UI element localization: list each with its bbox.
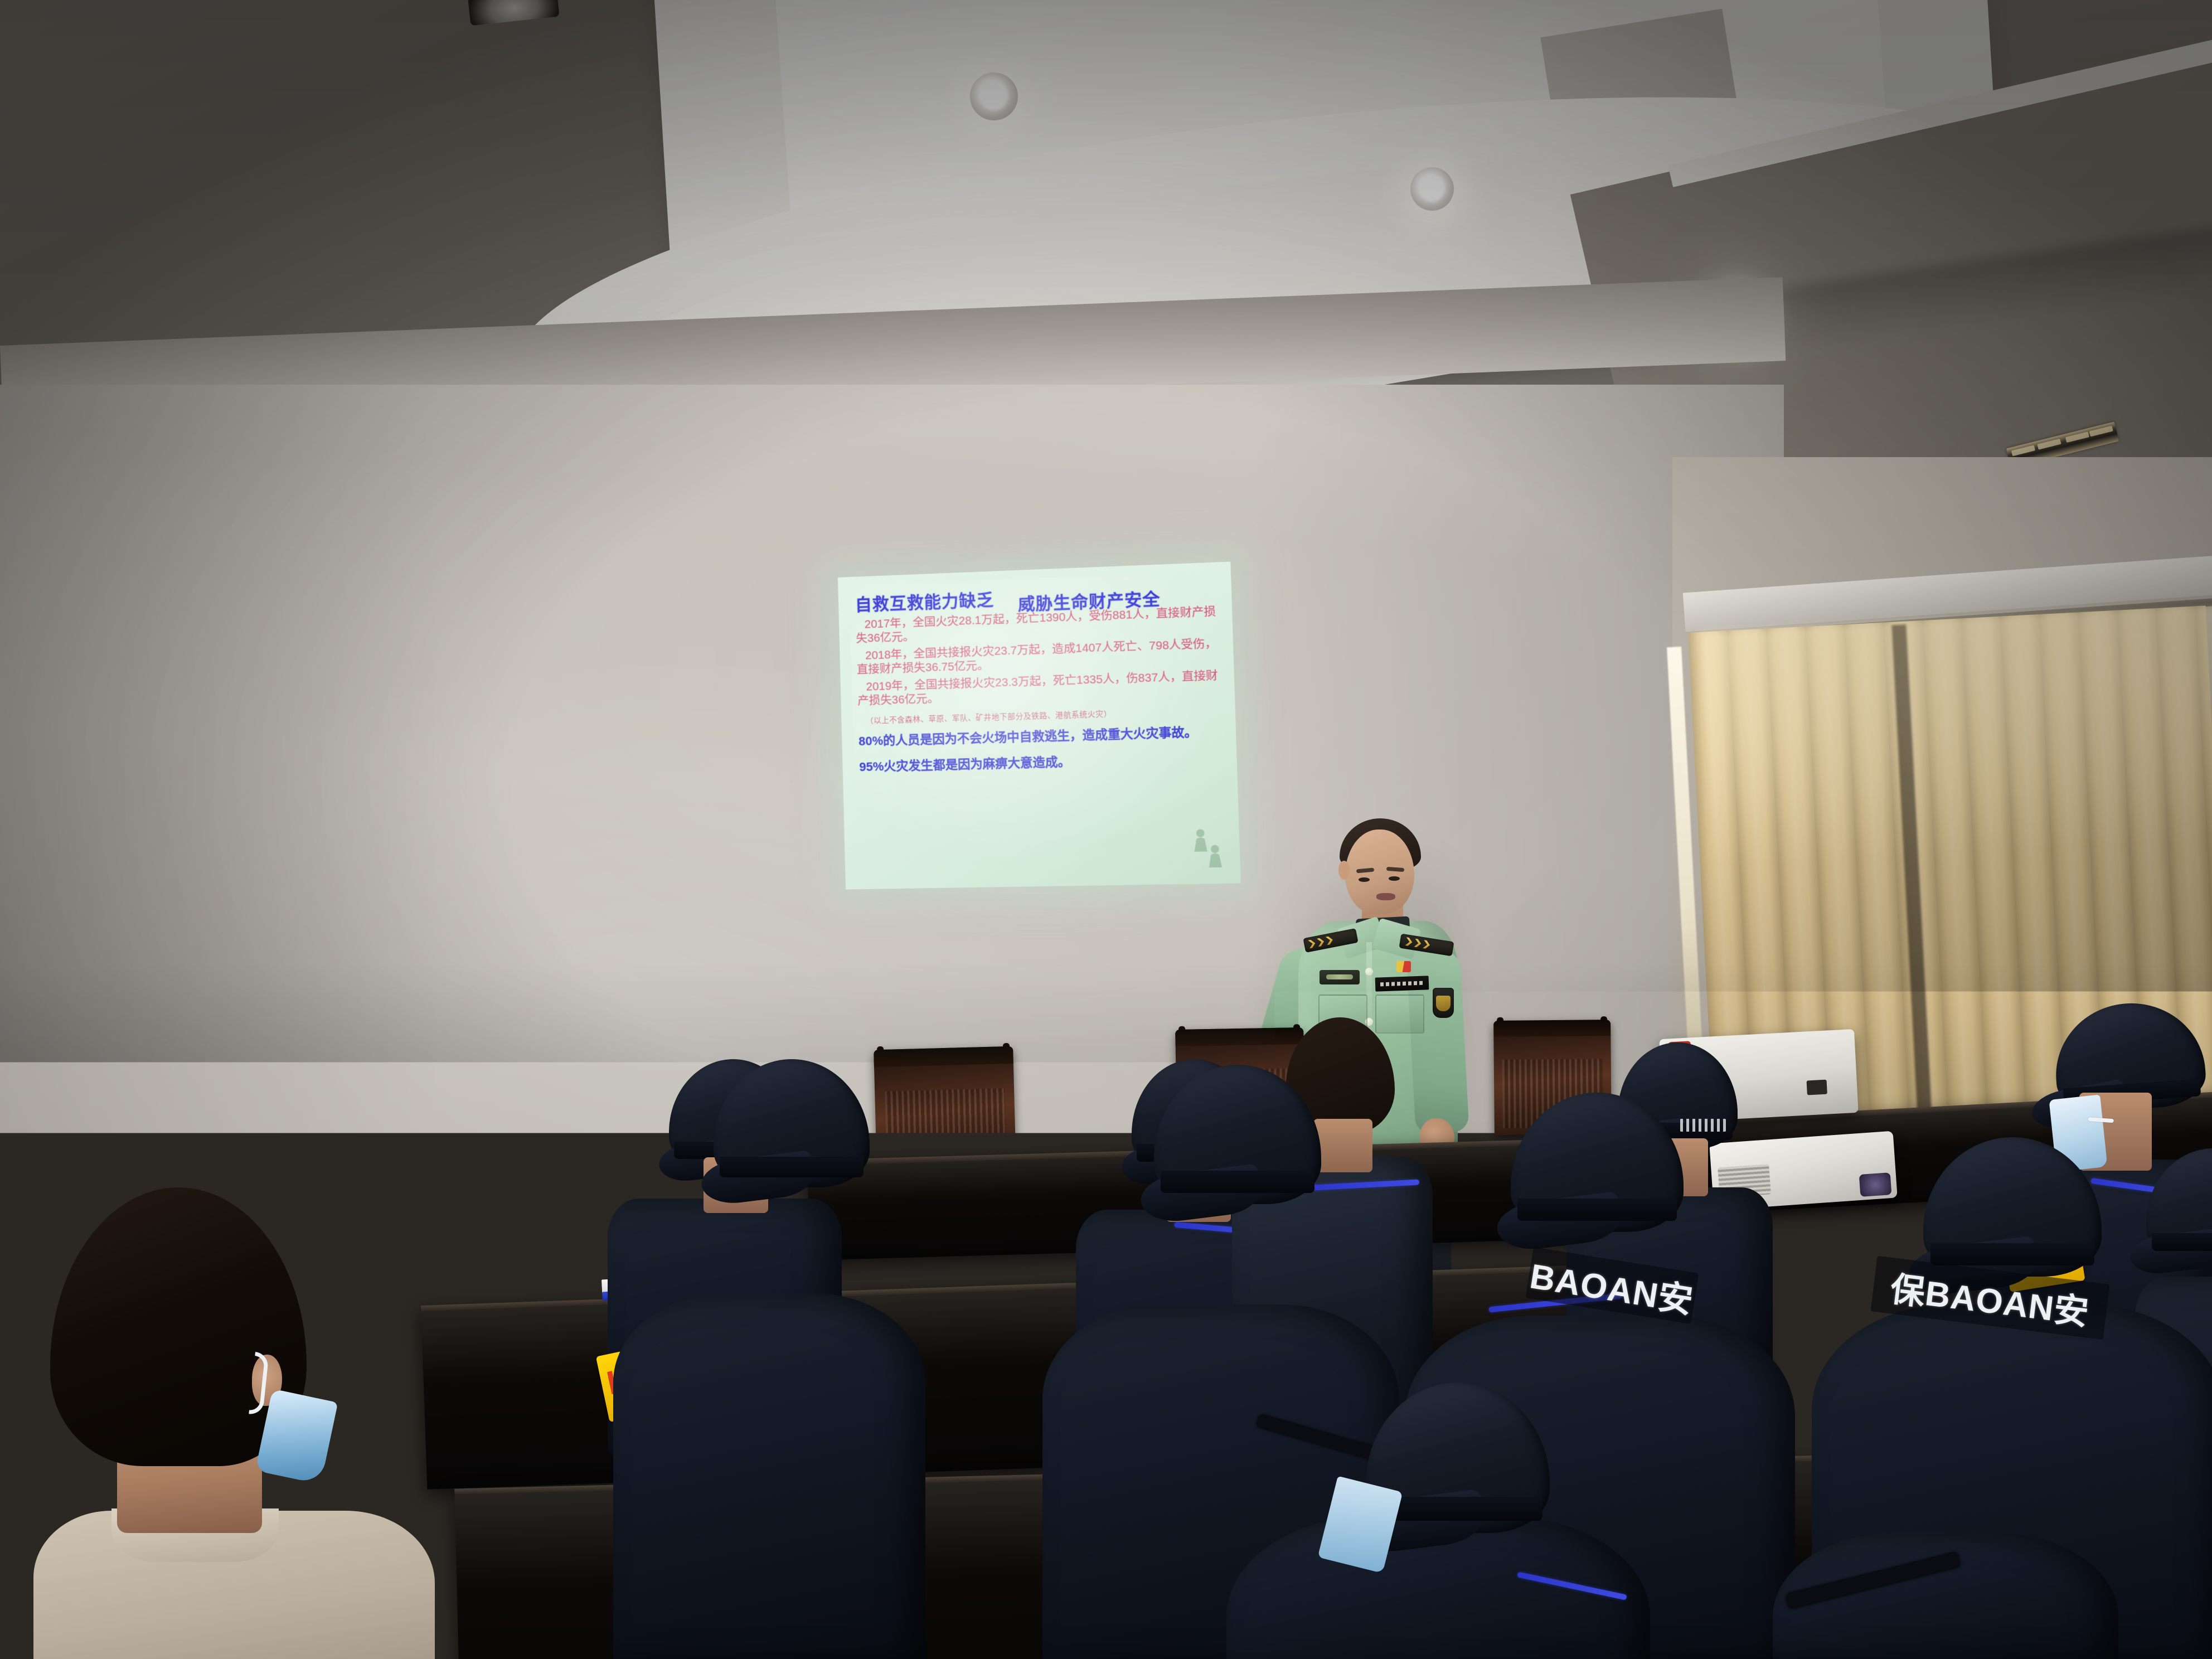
attendee-cap [714, 1059, 870, 1187]
attendee-bottom-right [1773, 1472, 2118, 1659]
attendee-front-bottom-center [1226, 1382, 1650, 1659]
downlight-icon-2 [1410, 167, 1454, 211]
edge-silhouette-bottom-left [379, 1561, 803, 1659]
presenter-eye-left [1359, 877, 1370, 882]
attendee-cap [1511, 1093, 1684, 1232]
presenter-nameplate [1375, 976, 1429, 991]
presenter-button-1 [1365, 968, 1373, 976]
attendee-cap [1154, 1065, 1321, 1204]
slide-title-left: 自救互救能力缺乏 [855, 586, 994, 616]
attendee-shoulder-patch-text: BAOAN安 [1526, 1247, 1699, 1324]
presenter-head [1345, 829, 1414, 914]
projected-slide: 自救互救能力缺乏 威胁生命财产安全 2017年，全国火灾28.1万起，死亡139… [838, 561, 1241, 889]
presenter-party-emblem-icon [1396, 961, 1411, 972]
presenter-eye-right [1389, 876, 1400, 881]
presenter-ear [1338, 861, 1350, 880]
foreground-attendee [33, 1187, 435, 1659]
conference-room-photo: 自救互救能力缺乏 威胁生命财产安全 2017年，全国火灾28.1万起，死亡139… [0, 0, 2212, 1659]
presenter-shoulder-patch-icon [1433, 988, 1454, 1018]
slide-statistics-list: 2017年，全国火灾28.1万起，死亡1390人，受伤881人，直接财产损失36… [856, 604, 1220, 708]
curtain-light-wash [1700, 605, 2212, 866]
presenter-mouth [1376, 893, 1395, 900]
slide-highlight-80: 80%的人员是因为不会火场中自救逃生，造成重大火灾事故。 [858, 724, 1221, 749]
slide-watermark-icon [1189, 826, 1228, 874]
presenter-wing-badge-icon [1320, 970, 1360, 984]
attendee-cap [1923, 1137, 2102, 1277]
downlight-icon-1 [970, 72, 1018, 120]
slide-highlight-95: 95%火灾发生都是因为麻痹大意造成。 [859, 750, 1222, 775]
slide-footnote: （以上不含森林、草原、军队、矿井地下部分及铁路、港航系统火灾） [866, 704, 1220, 726]
slide-title-right: 威胁生命财产安全 [1017, 585, 1161, 615]
